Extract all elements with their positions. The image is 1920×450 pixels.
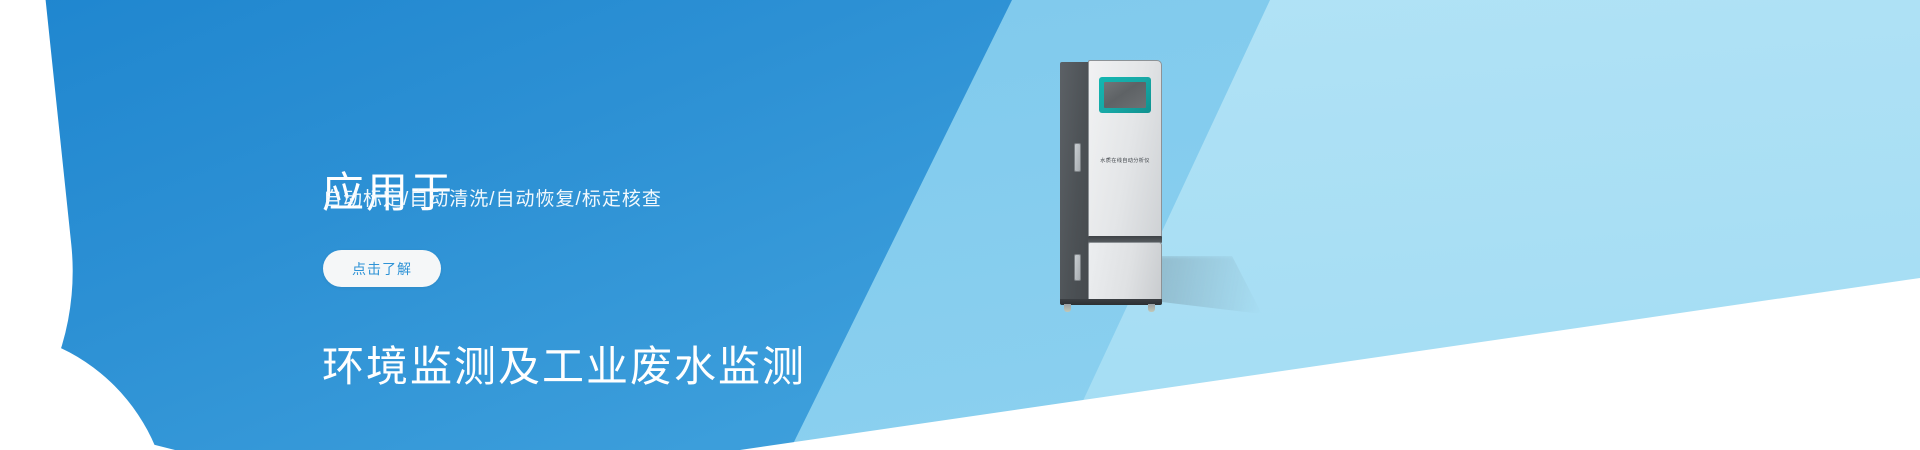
learn-more-button[interactable]: 点击了解 xyxy=(323,250,441,287)
device-cabinet-label: 水质在线自动分析仪 xyxy=(1090,157,1160,164)
device-display-bezel xyxy=(1099,77,1151,113)
device-caster-left xyxy=(1064,304,1071,312)
device-caster-right xyxy=(1148,304,1155,312)
device-lower-door xyxy=(1088,242,1162,301)
hero-subtitle: 自动标定/自动清洗/自动恢复/标定核查 xyxy=(323,184,662,211)
device-upper-handle xyxy=(1074,143,1081,172)
hero-headline: 应用于 环境监测及工业废水监测 xyxy=(322,48,806,450)
hero-copy: 应用于 环境监测及工业废水监测 自动标定/自动清洗/自动恢复/标定核查 点击了解 xyxy=(322,0,1082,450)
device-cabinet: 水质在线自动分析仪 xyxy=(1060,60,1164,305)
device-screen xyxy=(1104,82,1146,108)
device-lower-handle xyxy=(1074,254,1081,281)
product-image: 水质在线自动分析仪 xyxy=(1060,60,1190,315)
hero-banner: 应用于 环境监测及工业废水监测 自动标定/自动清洗/自动恢复/标定核查 点击了解… xyxy=(0,0,1920,450)
device-base xyxy=(1060,299,1162,305)
headline-line-2: 环境监测及工业废水监测 xyxy=(322,338,806,396)
